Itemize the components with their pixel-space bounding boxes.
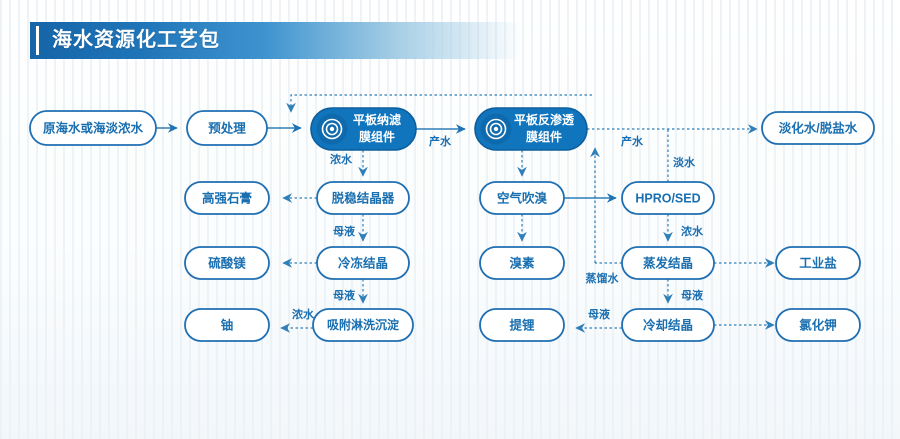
- node-uranium[interactable]: 铀: [185, 309, 269, 341]
- node-air-stripping-label: 空气吹溴: [497, 190, 548, 205]
- node-reverse-osmosis-module[interactable]: 平板反渗透 膜组件: [475, 108, 587, 150]
- edge-label-hpro-freshwater: 淡水: [673, 155, 696, 169]
- node-lithium-extraction-label: 提锂: [509, 317, 535, 332]
- node-air-stripping[interactable]: 空气吹溴: [480, 182, 564, 214]
- edge-label-evap-mother-liquor: 母液: [681, 288, 704, 302]
- edge-label-ro-product-water: 产水: [621, 134, 644, 148]
- node-freshwater[interactable]: 淡化水/脱盐水: [762, 112, 874, 144]
- node-feed-label: 原海水或海淡浓水: [43, 120, 144, 135]
- node-freeze-crystallization[interactable]: 冷冻结晶: [317, 247, 409, 279]
- node-reverse-osmosis-label-line1: 平板反渗透: [514, 112, 575, 127]
- node-lithium-extraction[interactable]: 提锂: [480, 309, 564, 341]
- node-industrial-salt[interactable]: 工业盐: [776, 247, 860, 279]
- diagram-canvas: 海水资源化工艺包: [0, 0, 900, 439]
- node-adsorption-elution-label: 吸附淋洗沉淀: [327, 317, 400, 332]
- node-destabilizing-crystallizer-label: 脱稳结晶器: [332, 190, 395, 205]
- node-hpro-sed[interactable]: HPRO/SED: [622, 182, 714, 214]
- edge-label-nf-product-water: 产水: [429, 134, 452, 148]
- node-evaporative-crystallization[interactable]: 蒸发结晶: [622, 247, 714, 279]
- node-cooling-crystallization[interactable]: 冷却结晶: [622, 309, 714, 341]
- node-gypsum-label: 高强石膏: [202, 190, 252, 205]
- node-destabilizing-crystallizer[interactable]: 脱稳结晶器: [317, 182, 409, 214]
- node-magnesium-sulfate-label: 硫酸镁: [208, 255, 246, 270]
- node-freeze-crystallization-label: 冷冻结晶: [338, 255, 388, 270]
- edge-label-distilled-water: 蒸馏水: [586, 271, 620, 285]
- edge-label-hpro-concentrate: 浓水: [681, 224, 704, 238]
- edge-label-cool-mother-liquor: 母液: [588, 307, 611, 321]
- edge-label-freeze-mother-liquor: 母液: [333, 288, 356, 302]
- edge-labels-layer: 产水 浓水 产水 淡水 浓水 母液 母液 浓水 蒸馏水 母液 母液: [292, 134, 704, 321]
- edge-label-adsorb-concentrate: 浓水: [292, 307, 315, 321]
- node-cooling-crystallization-label: 冷却结晶: [643, 317, 693, 332]
- node-adsorption-elution[interactable]: 吸附淋洗沉淀: [313, 309, 413, 341]
- edge-label-destab-mother-liquor: 母液: [333, 224, 356, 238]
- node-industrial-salt-label: 工业盐: [799, 255, 837, 270]
- membrane-icon: [481, 114, 512, 145]
- node-bromine-label: 溴素: [508, 255, 535, 270]
- node-potassium-chloride-label: 氯化钾: [799, 317, 837, 332]
- edge-label-nf-concentrate: 浓水: [330, 152, 353, 166]
- node-freshwater-label: 淡化水/脱盐水: [779, 120, 858, 135]
- node-pretreat[interactable]: 预处理: [187, 111, 267, 145]
- nodes-layer: 原海水或海淡浓水 预处理 平板纳滤 膜组件: [30, 108, 874, 341]
- node-bromine[interactable]: 溴素: [480, 247, 564, 279]
- node-evaporative-crystallization-label: 蒸发结晶: [643, 255, 693, 270]
- node-nanofiltration-label-line1: 平板纳滤: [353, 112, 401, 127]
- node-feed[interactable]: 原海水或海淡浓水: [30, 111, 156, 145]
- node-magnesium-sulfate[interactable]: 硫酸镁: [185, 247, 269, 279]
- process-flow-diagram: 原海水或海淡浓水 预处理 平板纳滤 膜组件: [0, 0, 900, 439]
- node-nanofiltration-module[interactable]: 平板纳滤 膜组件: [311, 108, 416, 150]
- node-potassium-chloride[interactable]: 氯化钾: [776, 309, 860, 341]
- node-nanofiltration-label-line2: 膜组件: [359, 129, 395, 144]
- node-uranium-label: 铀: [221, 317, 234, 332]
- node-reverse-osmosis-label-line2: 膜组件: [526, 129, 562, 144]
- node-pretreat-label: 预处理: [208, 120, 246, 135]
- membrane-icon: [317, 114, 348, 145]
- node-hpro-sed-label: HPRO/SED: [635, 191, 700, 205]
- node-gypsum[interactable]: 高强石膏: [185, 182, 269, 214]
